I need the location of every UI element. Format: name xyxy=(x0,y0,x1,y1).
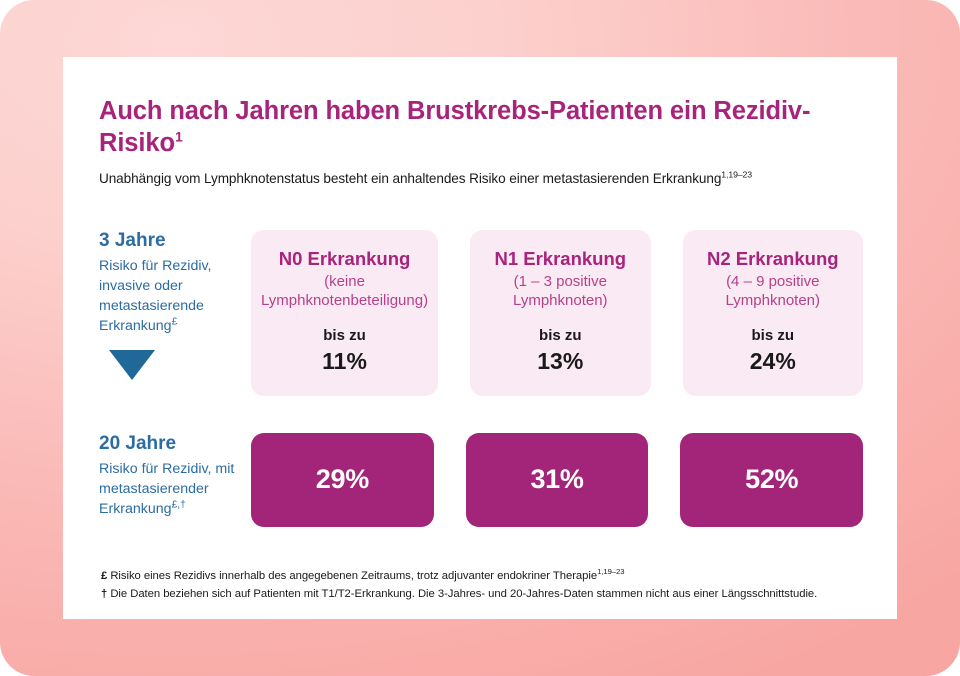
stat-card-qualifier: bis zu xyxy=(480,327,640,345)
result-card-value: 52% xyxy=(745,464,798,495)
row-label-description-text: Risiko für Rezidiv, mit metastasierender… xyxy=(99,461,234,517)
row-label-description: Risiko für Rezidiv, invasive oder metast… xyxy=(99,256,241,337)
spacer xyxy=(480,310,640,327)
row-3-jahre: 3 Jahre Risiko für Rezidiv, invasive ode… xyxy=(99,230,863,396)
stat-card-n0[interactable]: N0 Erkrankung (keine Lymphknotenbeteilig… xyxy=(251,230,438,396)
row-label-title: 3 Jahre xyxy=(99,230,241,253)
stat-card-qualifier: bis zu xyxy=(693,327,853,345)
stat-card-subtitle: (keine Lymphknotenbeteiligung) xyxy=(261,273,428,310)
row-label-superscript: £ xyxy=(172,316,178,327)
page-title-text: Auch nach Jahren haben Brustkrebs-Patien… xyxy=(99,97,810,157)
page-title: Auch nach Jahren haben Brustkrebs-Patien… xyxy=(99,95,863,159)
page-subtitle-text: Unabhängig vom Lymphknotenstatus besteht… xyxy=(99,171,721,186)
stat-card-subtitle: (4 – 9 positive Lymphknoten) xyxy=(693,273,853,310)
stat-card-value: 13% xyxy=(480,347,640,376)
footnote-text: Die Daten beziehen sich auf Patienten mi… xyxy=(107,588,817,600)
footnotes: £ Risiko eines Rezidivs innerhalb des an… xyxy=(99,567,863,604)
stat-card-value: 24% xyxy=(693,347,853,376)
stat-card-value: 11% xyxy=(261,347,428,376)
cards-row-bottom: 29% 31% 52% xyxy=(251,433,863,527)
stat-card-n1[interactable]: N1 Erkrankung (1 – 3 positive Lymphknote… xyxy=(470,230,650,396)
poster-background: Auch nach Jahren haben Brustkrebs-Patien… xyxy=(0,0,960,676)
stat-card-title: N1 Erkrankung xyxy=(480,248,640,270)
row-label-superscript: £,† xyxy=(172,499,186,510)
footnote-superscript: 1,19–23 xyxy=(597,567,624,576)
row-label-3-jahre: 3 Jahre Risiko für Rezidiv, invasive ode… xyxy=(99,230,251,396)
result-card-n2[interactable]: 52% xyxy=(680,433,863,527)
page-subtitle-superscript: 1,19–23 xyxy=(721,170,752,180)
result-card-n0[interactable]: 29% xyxy=(251,433,434,527)
row-label-description-text: Risiko für Rezidiv, invasive oder metast… xyxy=(99,258,211,334)
stat-card-title: N0 Erkrankung xyxy=(261,248,428,270)
result-card-value: 29% xyxy=(316,464,369,495)
page-subtitle: Unabhängig vom Lymphknotenstatus besteht… xyxy=(99,170,863,188)
page-title-superscript: 1 xyxy=(175,129,183,145)
result-card-value: 31% xyxy=(530,464,583,495)
spacer xyxy=(261,310,428,327)
result-card-n1[interactable]: 31% xyxy=(466,433,649,527)
footnote-dagger: † Die Daten beziehen sich auf Patienten … xyxy=(101,585,863,603)
infographic-card: Auch nach Jahren haben Brustkrebs-Patien… xyxy=(63,57,897,619)
arrow-container xyxy=(99,350,241,380)
row-label-title: 20 Jahre xyxy=(99,433,241,456)
stat-card-n2[interactable]: N2 Erkrankung (4 – 9 positive Lymphknote… xyxy=(683,230,863,396)
footnote-text: Risiko eines Rezidivs innerhalb des ange… xyxy=(107,570,597,582)
cards-row-top: N0 Erkrankung (keine Lymphknotenbeteilig… xyxy=(251,230,863,396)
triangle-down-icon xyxy=(109,350,155,380)
stat-card-subtitle: (1 – 3 positive Lymphknoten) xyxy=(480,273,640,310)
stat-card-title: N2 Erkrankung xyxy=(693,248,853,270)
row-label-20-jahre: 20 Jahre Risiko für Rezidiv, mit metasta… xyxy=(99,433,251,527)
footnote-pound: £ Risiko eines Rezidivs innerhalb des an… xyxy=(101,567,863,585)
row-20-jahre: 20 Jahre Risiko für Rezidiv, mit metasta… xyxy=(99,433,863,527)
spacer xyxy=(693,310,853,327)
row-label-description: Risiko für Rezidiv, mit metastasierender… xyxy=(99,459,241,519)
stat-card-qualifier: bis zu xyxy=(261,327,428,345)
